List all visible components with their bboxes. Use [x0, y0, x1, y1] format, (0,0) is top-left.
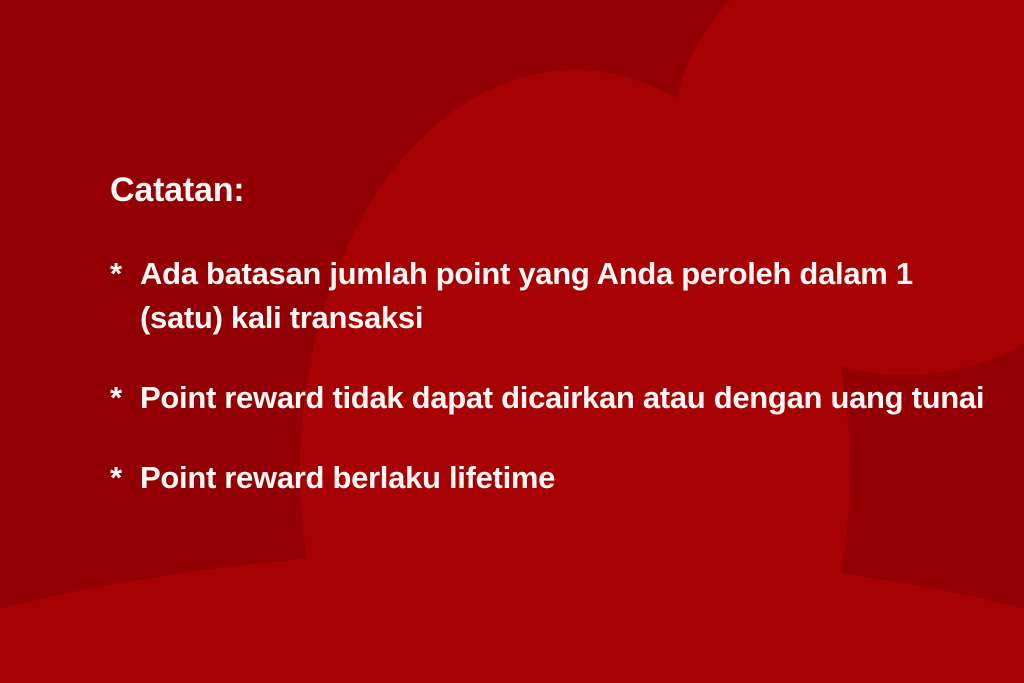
list-item-label: Point reward berlaku lifetime [140, 456, 990, 500]
list-item-label: Ada batasan jumlah point yang Anda perol… [140, 252, 990, 340]
notes-list: * Ada batasan jumlah point yang Anda per… [110, 252, 990, 500]
asterisk-bullet-icon: * [110, 376, 136, 420]
asterisk-bullet-icon: * [110, 456, 136, 500]
list-item: * Point reward tidak dapat dicairkan ata… [110, 376, 990, 420]
asterisk-bullet-icon: * [110, 252, 136, 296]
list-item: * Ada batasan jumlah point yang Anda per… [110, 252, 990, 340]
page-title: Catatan: [110, 172, 244, 209]
list-item: * Point reward berlaku lifetime [110, 456, 990, 500]
list-item-label: Point reward tidak dapat dicairkan atau … [140, 376, 990, 420]
banner-content: Catatan: * Ada batasan jumlah point yang… [0, 0, 1024, 683]
promo-banner: Catatan: * Ada batasan jumlah point yang… [0, 0, 1024, 683]
